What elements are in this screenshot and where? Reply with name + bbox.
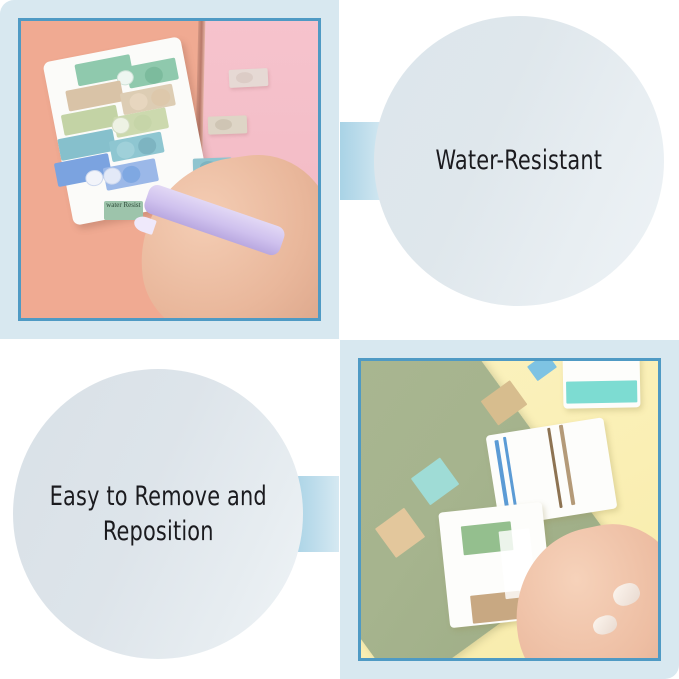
page-tab-2 (208, 115, 247, 134)
photo-frame-top-left: water Resist (18, 18, 321, 321)
photo-image-tabs-on-notebook: water Resist (21, 21, 318, 318)
panel-photo-tabs-on-yellow (340, 340, 679, 679)
panel-feature-easy-to-remove: Easy to Remove and Reposition (0, 340, 339, 679)
feature-heading-line-1: Easy to Remove and (49, 481, 266, 512)
feature-heading-line-2: Reposition (103, 516, 214, 547)
feature-grid: water Resist Water-Resistant Easy to Rem… (0, 0, 679, 679)
feature-circle-water-resistant: Water-Resistant (374, 16, 664, 306)
feature-heading-water-resistant: Water-Resistant (436, 144, 603, 178)
photo-frame-bottom-right (358, 358, 661, 661)
feature-heading-easy-to-remove: Easy to Remove and Reposition (49, 479, 266, 549)
page-tab-2-dot (215, 119, 232, 131)
page-tab-1-dot (236, 71, 254, 83)
panel-photo-tabs-on-notebook: water Resist (0, 0, 339, 339)
sticker-top-right (562, 361, 640, 409)
gutter-horizontal (0, 339, 679, 340)
photo-image-tabs-on-yellow (361, 361, 658, 658)
feature-circle-easy-to-remove: Easy to Remove and Reposition (13, 369, 303, 659)
sticker-band-mint (566, 381, 637, 404)
page-tab-1 (228, 68, 267, 88)
feature-card-easy-to-remove: Easy to Remove and Reposition (0, 340, 339, 679)
feature-card-water-resistant: Water-Resistant (340, 0, 679, 339)
panel-feature-water-resistant: Water-Resistant (340, 0, 679, 339)
sticker-stripe-tan (558, 425, 575, 506)
